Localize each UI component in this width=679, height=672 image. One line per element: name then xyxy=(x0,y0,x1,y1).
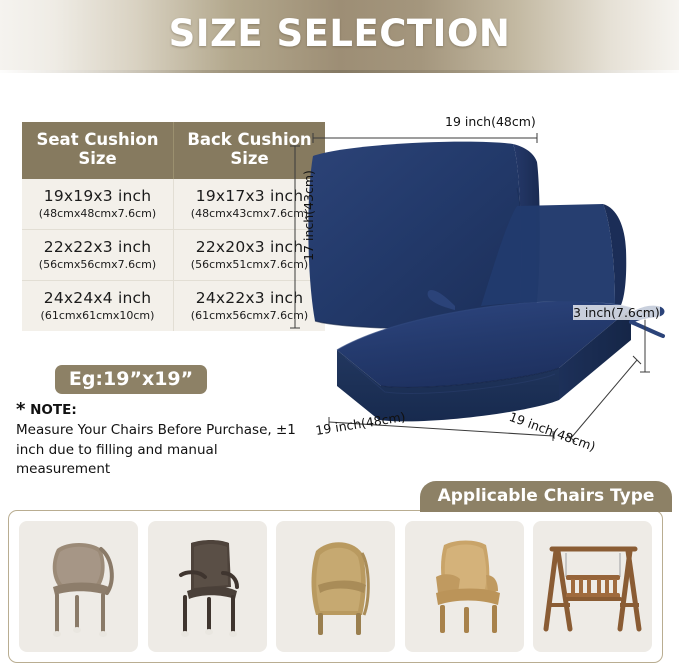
header-banner: SIZE SELECTION xyxy=(0,0,679,73)
seat-size-cell: 19x19x3 inch (48cmx48cmx7.6cm) xyxy=(22,179,174,230)
dimension-back-width: 19 inch(48cm) xyxy=(445,114,536,129)
note-heading-label: NOTE: xyxy=(30,402,77,418)
dark-brown-wicker-armchair-icon xyxy=(157,529,257,644)
seat-size-inch: 22x22x3 inch xyxy=(24,238,171,256)
chair-thumbnail-2[interactable] xyxy=(148,521,267,652)
page-title: SIZE SELECTION xyxy=(0,12,679,55)
round-back-wicker-stacking-chair-icon xyxy=(29,529,129,644)
table-row: 19x19x3 inch (48cmx48cmx7.6cm) 19x17x3 i… xyxy=(22,179,325,230)
chair-thumbnail-4[interactable] xyxy=(405,521,524,652)
applicable-chairs-tab: Applicable Chairs Type xyxy=(420,481,672,512)
chair-thumbnail-5[interactable] xyxy=(533,521,652,652)
natural-rattan-armchair-icon xyxy=(414,529,514,644)
note-block: * NOTE: Measure Your Chairs Before Purch… xyxy=(16,399,306,479)
note-heading: * NOTE: xyxy=(16,399,306,420)
chair-thumbnail-3[interactable] xyxy=(276,521,395,652)
seat-size-cm: (61cmx61cmx10cm) xyxy=(24,309,171,322)
dimension-back-height: 17 inch(43cm) xyxy=(301,170,316,261)
wooden-porch-swing-icon xyxy=(540,529,645,644)
note-line-1: Measure Your Chairs Before Purchase, ±1 xyxy=(16,421,306,440)
seat-size-cm: (56cmx56cmx7.6cm) xyxy=(24,258,171,271)
seat-size-inch: 24x24x4 inch xyxy=(24,289,171,307)
asterisk-icon: * xyxy=(16,399,25,420)
dimension-thickness: 3 inch(7.6cm) xyxy=(573,305,660,320)
seat-size-cell: 24x24x4 inch (61cmx61cmx10cm) xyxy=(22,280,174,331)
chair-thumbnail-1[interactable] xyxy=(19,521,138,652)
size-table: Seat Cushion Size Back Cushion Size 19x1… xyxy=(22,122,325,331)
cushion-diagram: 19 inch(48cm) 17 inch(43cm) 3 inch(7.6cm… xyxy=(285,100,679,480)
seat-size-inch: 19x19x3 inch xyxy=(24,187,171,205)
applicable-chairs-panel xyxy=(8,510,663,663)
seat-size-cm: (48cmx48cmx7.6cm) xyxy=(24,207,171,220)
table-row: 24x24x4 inch (61cmx61cmx10cm) 24x22x3 in… xyxy=(22,280,325,331)
seat-size-cell: 22x22x3 inch (56cmx56cmx7.6cm) xyxy=(22,229,174,280)
example-size-badge: Eg:19”x19” xyxy=(55,365,207,394)
table-row: 22x22x3 inch (56cmx56cmx7.6cm) 22x20x3 i… xyxy=(22,229,325,280)
note-line-2: inch due to filling and manual measureme… xyxy=(16,441,306,479)
barrel-back-wicker-chair-icon xyxy=(286,529,386,644)
table-header-row: Seat Cushion Size Back Cushion Size xyxy=(22,122,325,179)
column-header-seat-cushion: Seat Cushion Size xyxy=(22,122,174,179)
